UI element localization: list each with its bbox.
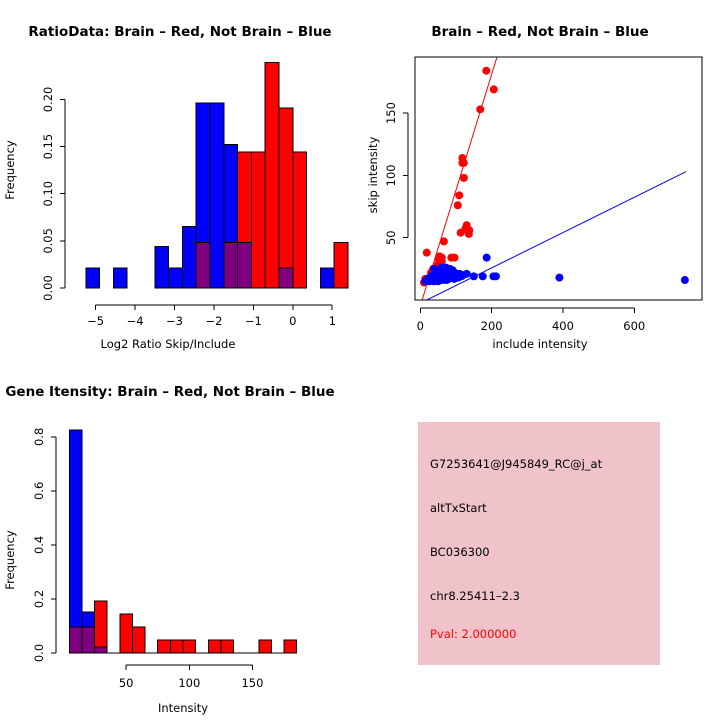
histogram-bar-overlap [69,627,82,653]
scatter-point-brain [460,174,468,182]
panel-gene-intensity-histogram: Gene Itensity: Brain – Red, Not Brain – … [0,360,360,720]
y-tick-label: 100 [384,164,398,186]
info-event-type: altTxStart [430,501,487,515]
scatter-point-brain [460,159,468,167]
scatter-points [420,67,689,287]
histogram-bar-overlap [95,647,108,653]
scatter-point-brain [423,249,431,257]
ratio-histogram-title: RatioData: Brain – Red, Not Brain – Blue [28,24,331,40]
y-tick-label: 0.15 [41,134,55,160]
info-locus: chr8.25411–2.3 [430,589,520,603]
x-tick-label: −3 [166,314,183,328]
gene-histogram-xlabel: Intensity [158,701,208,715]
x-tick-label: 1 [329,314,336,328]
histogram-bar-not-brain [86,268,100,288]
gene-info-box: G7253641@J945849_RC@j_at altTxStart BC03… [418,422,660,665]
panel-intensity-scatter: Brain – Red, Not Brain – Blue include in… [360,0,720,360]
histogram-bar-brain [251,152,265,288]
y-tick-label: 0.4 [32,536,46,554]
scatter-point-brain [451,254,459,262]
histogram-bar-not-brain [113,268,127,288]
histogram-bar-brain [120,614,133,653]
figure-canvas: RatioData: Brain – Red, Not Brain – Blue… [0,0,720,720]
info-accession: BC036300 [430,545,490,559]
ratio-histogram-ylabel: Frequency [3,140,17,200]
scatter-point-not-brain [492,272,500,280]
x-tick-label: −2 [205,314,222,328]
x-tick-label: 150 [241,676,263,690]
gene-histogram-bars [69,430,296,653]
scatter-point-not-brain [434,277,442,285]
y-tick-label: 0.20 [41,87,55,113]
gene-histogram-svg: Gene Itensity: Brain – Red, Not Brain – … [0,360,360,720]
x-tick-label: 100 [178,676,200,690]
histogram-bar-not-brain [320,268,334,288]
x-tick-label: 200 [481,319,503,333]
x-tick-label: 400 [552,319,574,333]
scatter-point-brain [476,105,484,113]
scatter-point-brain [457,229,465,237]
scatter-point-not-brain [681,276,689,284]
scatter-point-brain [490,85,498,93]
histogram-bar-brain [293,152,307,288]
scatter-point-not-brain [483,254,491,262]
scatter-point-not-brain [479,272,487,280]
scatter-xlabel: include intensity [492,337,587,351]
scatter-point-brain [465,230,473,238]
panel-gene-info: G7253641@J945849_RC@j_at altTxStart BC03… [360,360,720,720]
histogram-bar-brain [221,640,234,653]
x-tick-label: 600 [623,319,645,333]
scatter-svg: Brain – Red, Not Brain – Blue include in… [360,0,720,360]
histogram-bar-not-brain [169,268,183,288]
histogram-bar-not-brain [69,430,82,653]
histogram-bar-brain [208,640,221,653]
histogram-bar-overlap [224,243,238,288]
scatter-point-brain [455,191,463,199]
scatter-fit-line-brain-fit [422,57,497,300]
scatter-plot-box [415,57,702,300]
x-tick-label: −1 [245,314,262,328]
histogram-bar-brain [183,640,196,653]
scatter-point-not-brain [443,276,451,284]
scatter-point-not-brain [470,272,478,280]
gene-histogram-ylabel: Frequency [3,530,17,590]
scatter-point-not-brain [450,275,458,283]
histogram-bar-brain [158,640,171,653]
x-tick-label: −4 [127,314,144,328]
x-tick-label: −5 [87,314,104,328]
y-tick-label: 0.2 [32,590,46,608]
scatter-point-brain [454,201,462,209]
y-tick-label: 0.8 [32,428,46,446]
histogram-bar-not-brain [182,227,196,288]
y-tick-label: 0.00 [41,275,55,301]
ratio-histogram-bars [86,63,348,288]
scatter-axes: 501001500200400600 [384,57,702,333]
y-tick-label: 0.10 [41,181,55,207]
histogram-bar-overlap [82,627,95,653]
ratio-histogram-svg: RatioData: Brain – Red, Not Brain – Blue… [0,0,360,360]
scatter-title: Brain – Red, Not Brain – Blue [431,24,648,40]
histogram-bar-brain [95,601,108,653]
histogram-bar-not-brain [155,247,169,288]
y-tick-label: 150 [384,102,398,124]
histogram-bar-brain [132,627,145,653]
y-tick-label: 0.0 [32,644,46,662]
histogram-bar-brain [265,63,279,288]
histogram-bar-overlap [238,243,252,288]
histogram-bar-overlap [196,243,210,288]
histogram-bar-brain [170,640,183,653]
gene-histogram-title: Gene Itensity: Brain – Red, Not Brain – … [5,384,334,400]
x-tick-label: 0 [289,314,296,328]
x-tick-label: 50 [119,676,134,690]
scatter-point-brain [440,237,448,245]
info-probe-id: G7253641@J945849_RC@j_at [430,457,602,471]
y-tick-label: 0.6 [32,482,46,500]
scatter-point-brain [482,67,490,75]
ratio-histogram-xlabel: Log2 Ratio Skip/Include [101,337,236,351]
y-tick-label: 50 [384,230,398,245]
y-tick-label: 0.05 [41,228,55,254]
histogram-bar-brain [284,640,297,653]
histogram-bar-not-brain [210,103,224,288]
histogram-bar-overlap [279,268,293,288]
panel-ratio-histogram: RatioData: Brain – Red, Not Brain – Blue… [0,0,360,360]
histogram-bar-brain [279,108,293,288]
scatter-ylabel: skip intensity [366,136,380,213]
scatter-point-not-brain [555,274,563,282]
histogram-bar-brain [259,640,272,653]
x-tick-label: 0 [417,319,424,333]
histogram-bar-brain [334,243,348,288]
info-pval: Pval: 2.000000 [430,627,516,641]
